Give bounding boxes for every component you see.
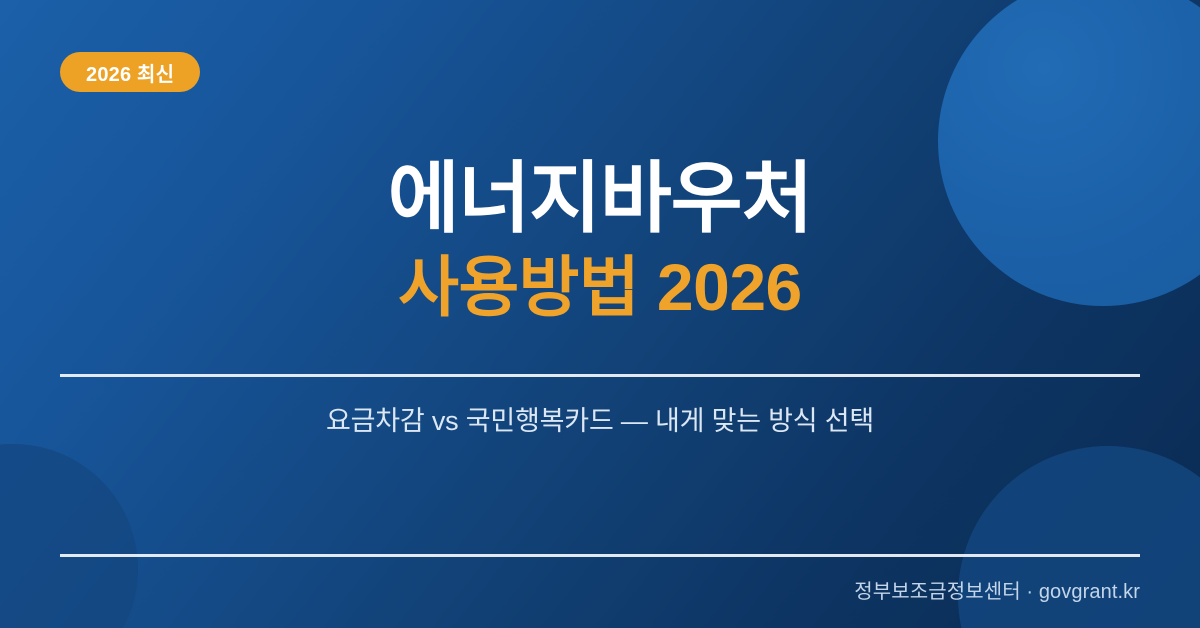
footer-attribution: 정부보조금정보센터 · govgrant.kr bbox=[854, 575, 1140, 604]
title-block: 에너지바우처 사용방법 2026 bbox=[0, 158, 1200, 323]
og-card: 2026 최신 에너지바우처 사용방법 2026 요금차감 vs 국민행복카드 … bbox=[0, 0, 1200, 628]
divider-bottom bbox=[60, 554, 1140, 557]
card-content: 2026 최신 에너지바우처 사용방법 2026 요금차감 vs 국민행복카드 … bbox=[0, 0, 1200, 628]
subtitle: 요금차감 vs 국민행복카드 — 내게 맞는 방식 선택 bbox=[0, 404, 1200, 439]
page-title-primary: 에너지바우처 bbox=[0, 158, 1200, 239]
divider-top bbox=[60, 374, 1140, 377]
page-title-secondary: 사용방법 2026 bbox=[0, 253, 1200, 323]
year-badge: 2026 최신 bbox=[60, 52, 200, 92]
